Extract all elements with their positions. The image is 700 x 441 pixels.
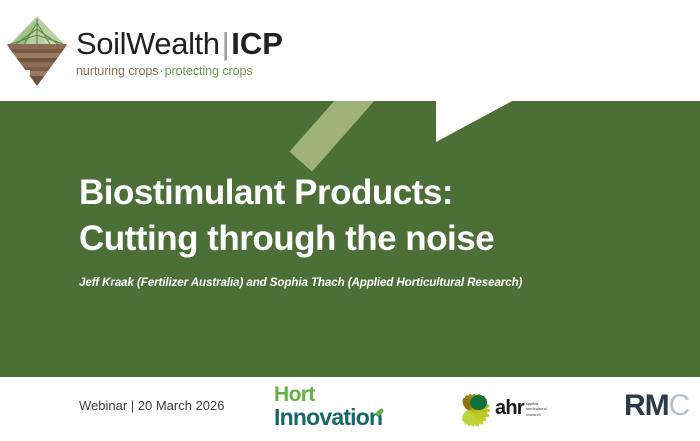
soilwealth-icp-logo: SoilWealth|ICP nurturing crops·protectin… bbox=[6, 14, 283, 88]
logo-wordmark: SoilWealth|ICP nurturing crops·protectin… bbox=[76, 24, 283, 78]
title-line-2: Cutting through the noise bbox=[79, 216, 494, 262]
rmc-light-part: C bbox=[669, 389, 690, 422]
ahr-fan-icon bbox=[449, 388, 493, 428]
leaf-accent-icon bbox=[375, 408, 385, 417]
rmc-bold-part: RM bbox=[624, 389, 669, 422]
logo-tagline: nurturing crops·protecting crops bbox=[76, 65, 283, 78]
logo-title: SoilWealth|ICP bbox=[76, 28, 283, 59]
ahr-core-leaf-icon bbox=[470, 395, 487, 410]
event-date-line: Webinar | 20 March 2026 bbox=[79, 398, 225, 413]
hort-innovation-line-2: Innovation bbox=[274, 406, 382, 429]
logo-divider: | bbox=[220, 26, 232, 61]
ahr-wordmark: ahr bbox=[495, 398, 524, 418]
hort-innovation-line-1: Hort bbox=[274, 384, 382, 405]
ahr-tagline-line-2: horticultural bbox=[526, 407, 547, 412]
soilwealth-diamond-logo bbox=[6, 14, 68, 88]
presenters-line: Jeff Kraak (Fertilizer Australia) and So… bbox=[79, 276, 522, 289]
tagline-part-1: nurturing crops bbox=[76, 64, 159, 78]
logo-brand-primary: SoilWealth bbox=[76, 26, 220, 61]
rmc-logo: RMC bbox=[624, 391, 689, 421]
logo-brand-secondary: ICP bbox=[231, 26, 283, 61]
hort-innovation-logo: Hort Innovation bbox=[274, 384, 382, 429]
slide-footer: Webinar | 20 March 2026 Hort Innovation … bbox=[0, 377, 700, 441]
ahr-tagline: applied horticultural research bbox=[526, 398, 547, 418]
ahr-logo: ahr applied horticultural research bbox=[449, 388, 547, 428]
ahr-tagline-line-3: research bbox=[526, 413, 547, 418]
diamond-logo-svg bbox=[6, 14, 68, 88]
presentation-slide: iStock iStock iStock bbox=[0, 0, 700, 441]
page-title: Biostimulant Products: Cutting through t… bbox=[79, 170, 494, 261]
tagline-part-2: protecting crops bbox=[165, 64, 253, 78]
slide-header: SoilWealth|ICP nurturing crops·protectin… bbox=[0, 0, 700, 101]
title-line-1: Biostimulant Products: bbox=[79, 173, 453, 212]
